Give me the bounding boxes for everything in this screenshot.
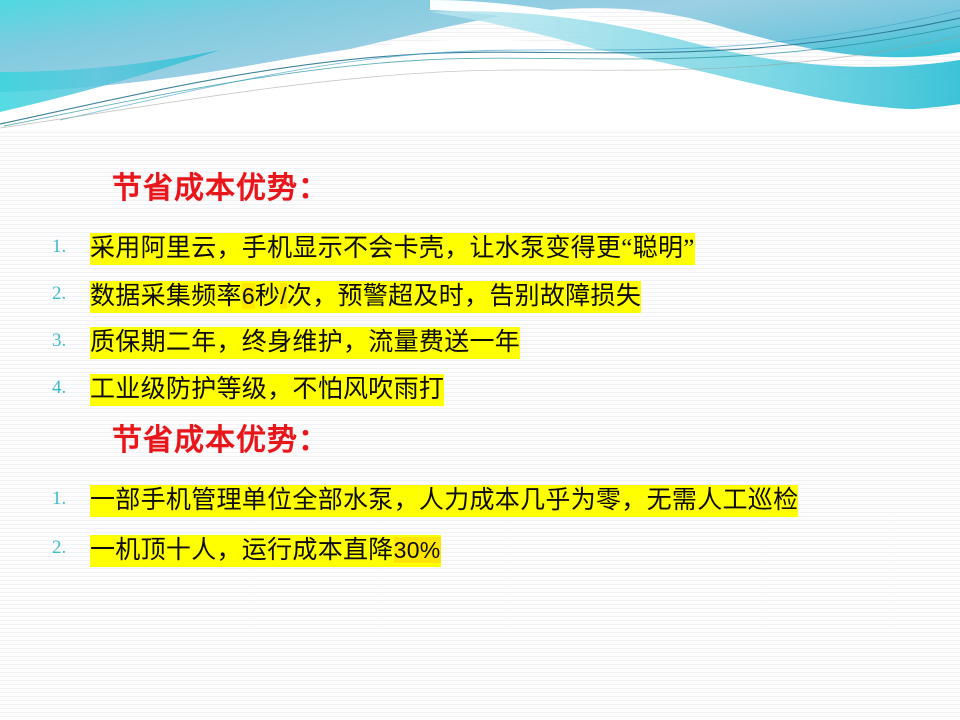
text-run: 数据采集频率 [90,283,242,310]
list-item-text: 一机顶十人，运行成本直降30% [90,533,441,568]
list-item-text: 一部手机管理单位全部水泵，人力成本几乎为零，无需人工巡检 [90,484,798,518]
section-title-2: 节省成本优势： [112,424,329,457]
list-item-number: 2. [52,283,86,305]
list-item-text: 质保期二年，终身维护，流量费送一年 [90,326,520,360]
slide-canvas: 节省成本优势： 1. 采用阿里云，手机显示不会卡壳，让水泵变得更“聪明” 2. … [0,0,960,720]
highlighted-text: 质保期二年，终身维护，流量费送一年 [90,327,520,359]
list-item-text: 采用阿里云，手机显示不会卡壳，让水泵变得更“聪明” [90,232,695,266]
list-item-number: 1. [52,488,86,510]
list-item-text: 工业级防护等级，不怕风吹雨打 [90,373,444,407]
section-title-1: 节省成本优势： [112,172,329,205]
highlighted-text: 数据采集频率6秒/次，预警超及时，告别故障损失 [90,281,641,313]
list-item[interactable]: 2. 数据采集频率6秒/次，预警超及时，告别故障损失 [0,279,960,326]
text-run: 秒 [255,283,280,310]
list-item-text: 数据采集频率6秒/次，预警超及时，告别故障损失 [90,279,641,314]
highlighted-text: 采用阿里云，手机显示不会卡壳，让水泵变得更“聪明” [90,233,695,265]
list-item[interactable]: 2. 一机顶十人，运行成本直降30% [0,533,960,582]
list-item-number: 3. [52,330,86,352]
list-item[interactable]: 1. 一部手机管理单位全部水泵，人力成本几乎为零，无需人工巡检 [0,484,960,533]
list-item-number: 1. [52,236,86,258]
text-run: 次，预警超及时，告别故障损失 [287,283,641,310]
list-section-2: 1. 一部手机管理单位全部水泵，人力成本几乎为零，无需人工巡检 2. 一机顶十人… [0,484,960,582]
list-item-number: 2. [52,537,86,559]
emphasis-run: 30% [394,537,441,563]
highlighted-text: 工业级防护等级，不怕风吹雨打 [90,374,444,406]
list-section-1: 1. 采用阿里云，手机显示不会卡壳，让水泵变得更“聪明” 2. 数据采集频率6秒… [0,232,960,420]
text-run: 一机顶十人，运行成本直降 [90,537,394,564]
list-item[interactable]: 3. 质保期二年，终身维护，流量费送一年 [0,326,960,373]
highlighted-text: 一机顶十人，运行成本直降30% [90,535,441,567]
emphasis-run: / [280,283,287,309]
list-item[interactable]: 1. 采用阿里云，手机显示不会卡壳，让水泵变得更“聪明” [0,232,960,279]
list-item[interactable]: 4. 工业级防护等级，不怕风吹雨打 [0,373,960,420]
highlighted-text: 一部手机管理单位全部水泵，人力成本几乎为零，无需人工巡检 [90,485,798,517]
list-item-number: 4. [52,377,86,399]
slide-content: 节省成本优势： 1. 采用阿里云，手机显示不会卡壳，让水泵变得更“聪明” 2. … [0,0,960,720]
emphasis-run: 6 [242,283,255,309]
